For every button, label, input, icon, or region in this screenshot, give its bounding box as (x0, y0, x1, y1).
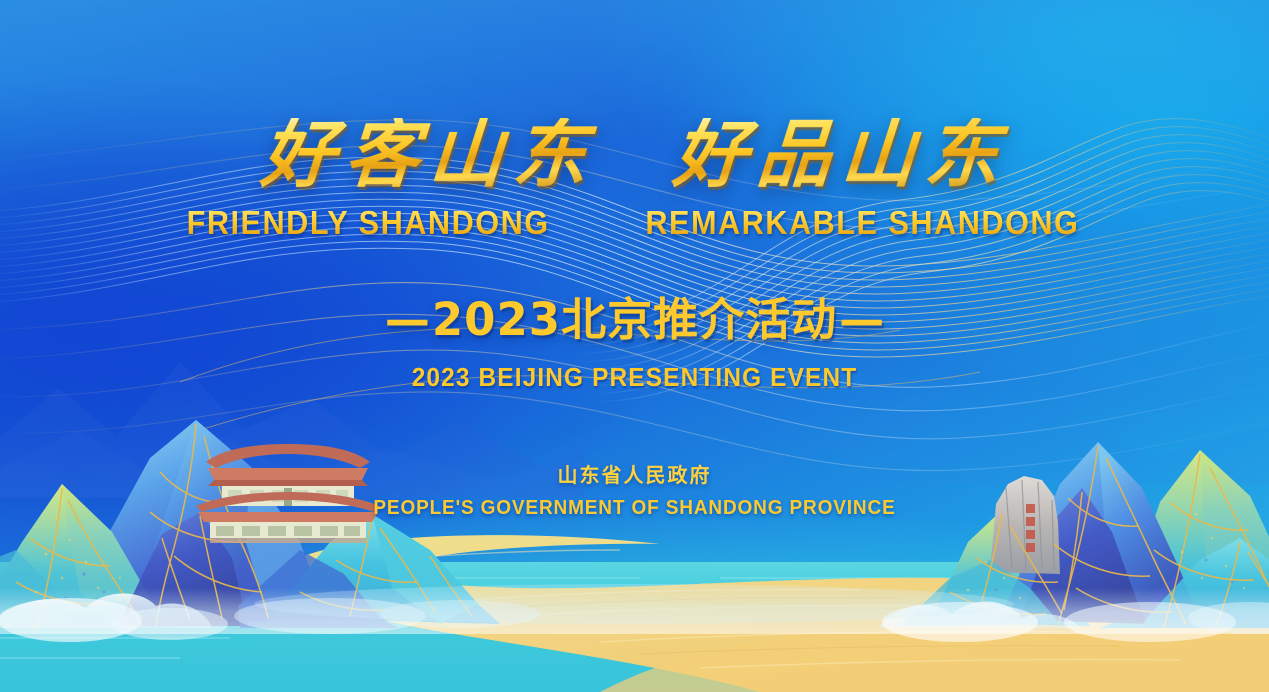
main-title-english-row: FRIENDLY SHANDONG REMARKABLE SHANDONG (0, 206, 1269, 239)
dash-right: — (837, 293, 886, 346)
event-subtitle-cn-text: 2023北京推介活动 (432, 293, 837, 346)
organizer-name-en: PEOPLE'S GOVERNMENT OF SHANDONG PROVINCE (32, 497, 1238, 520)
cloud-mist-layer (0, 584, 1269, 642)
organizer-block: 山东省人民政府 PEOPLE'S GOVERNMENT OF SHANDONG … (0, 459, 1269, 520)
dash-left: — (383, 293, 432, 346)
main-title-cn-friendly: 好客山东 (258, 118, 599, 192)
event-subtitle-cn: —2023北京推介活动— (0, 283, 1269, 348)
title-text-block: 好客山东 好品山东 FRIENDLY SHANDONG REMARKABLE S… (0, 0, 1269, 520)
organizer-name-cn: 山东省人民政府 (0, 459, 1269, 488)
main-title-en-remarkable: REMARKABLE SHANDONG (646, 206, 1080, 239)
event-subtitle-en: 2023 BEIJING PRESENTING EVENT (38, 362, 1231, 393)
main-title-en-friendly: FRIENDLY SHANDONG (187, 206, 550, 239)
main-title-chinese-row: 好客山东 好品山东 (0, 118, 1269, 192)
main-title-cn-remarkable: 好品山东 (670, 118, 1011, 192)
event-poster: 好客山东 好品山东 FRIENDLY SHANDONG REMARKABLE S… (0, 0, 1269, 692)
